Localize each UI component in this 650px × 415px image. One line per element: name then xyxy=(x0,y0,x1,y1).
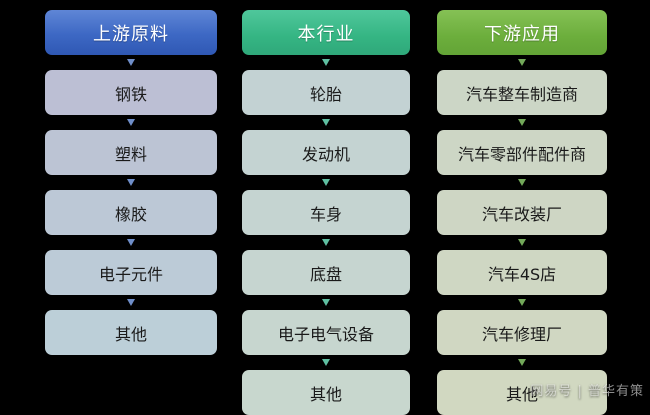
arrow-down-icon xyxy=(127,119,135,126)
connector-arrow xyxy=(437,115,607,130)
node-box[interactable]: 其他 xyxy=(437,370,607,415)
connector-arrow xyxy=(242,115,410,130)
connector-arrow xyxy=(242,235,410,250)
diagram-canvas: 上游原料钢铁塑料橡胶电子元件其他本行业轮胎发动机车身底盘电子电气设备其他下游应用… xyxy=(0,0,650,407)
node-box[interactable]: 钢铁 xyxy=(45,70,217,115)
node-box[interactable]: 底盘 xyxy=(242,250,410,295)
arrow-down-icon xyxy=(518,179,526,186)
connector-arrow xyxy=(45,295,217,310)
node-box[interactable]: 轮胎 xyxy=(242,70,410,115)
arrow-down-icon xyxy=(127,59,135,66)
node-box[interactable]: 汽车零部件配件商 xyxy=(437,130,607,175)
arrow-down-icon xyxy=(322,119,330,126)
connector-arrow xyxy=(45,235,217,250)
node-box[interactable]: 其他 xyxy=(242,370,410,415)
column-container: 上游原料钢铁塑料橡胶电子元件其他本行业轮胎发动机车身底盘电子电气设备其他下游应用… xyxy=(0,0,650,407)
arrow-down-icon xyxy=(518,239,526,246)
arrow-down-icon xyxy=(127,239,135,246)
arrow-down-icon xyxy=(127,179,135,186)
arrow-down-icon xyxy=(518,59,526,66)
arrow-down-icon xyxy=(127,299,135,306)
column-header-upstream[interactable]: 上游原料 xyxy=(45,10,217,55)
node-box[interactable]: 车身 xyxy=(242,190,410,235)
node-box[interactable]: 发动机 xyxy=(242,130,410,175)
arrow-down-icon xyxy=(518,359,526,366)
connector-arrow xyxy=(437,295,607,310)
connector-arrow xyxy=(45,55,217,70)
connector-arrow xyxy=(437,355,607,370)
arrow-down-icon xyxy=(322,359,330,366)
connector-arrow xyxy=(242,355,410,370)
connector-arrow xyxy=(437,175,607,190)
arrow-down-icon xyxy=(518,119,526,126)
arrow-down-icon xyxy=(322,239,330,246)
column-downstream: 下游应用汽车整车制造商汽车零部件配件商汽车改装厂汽车4S店汽车修理厂其他 xyxy=(437,10,607,415)
connector-arrow xyxy=(242,295,410,310)
node-box[interactable]: 电子电气设备 xyxy=(242,310,410,355)
connector-arrow xyxy=(437,55,607,70)
node-box[interactable]: 汽车修理厂 xyxy=(437,310,607,355)
column-industry: 本行业轮胎发动机车身底盘电子电气设备其他 xyxy=(242,10,410,415)
arrow-down-icon xyxy=(518,299,526,306)
column-header-industry[interactable]: 本行业 xyxy=(242,10,410,55)
connector-arrow xyxy=(242,175,410,190)
node-box[interactable]: 橡胶 xyxy=(45,190,217,235)
node-box[interactable]: 其他 xyxy=(45,310,217,355)
connector-arrow xyxy=(45,175,217,190)
column-header-downstream[interactable]: 下游应用 xyxy=(437,10,607,55)
arrow-down-icon xyxy=(322,179,330,186)
arrow-down-icon xyxy=(322,299,330,306)
node-box[interactable]: 汽车改装厂 xyxy=(437,190,607,235)
connector-arrow xyxy=(242,55,410,70)
column-upstream: 上游原料钢铁塑料橡胶电子元件其他 xyxy=(45,10,217,355)
node-box[interactable]: 汽车整车制造商 xyxy=(437,70,607,115)
node-box[interactable]: 汽车4S店 xyxy=(437,250,607,295)
node-box[interactable]: 电子元件 xyxy=(45,250,217,295)
node-box[interactable]: 塑料 xyxy=(45,130,217,175)
connector-arrow xyxy=(437,235,607,250)
connector-arrow xyxy=(45,115,217,130)
arrow-down-icon xyxy=(322,59,330,66)
